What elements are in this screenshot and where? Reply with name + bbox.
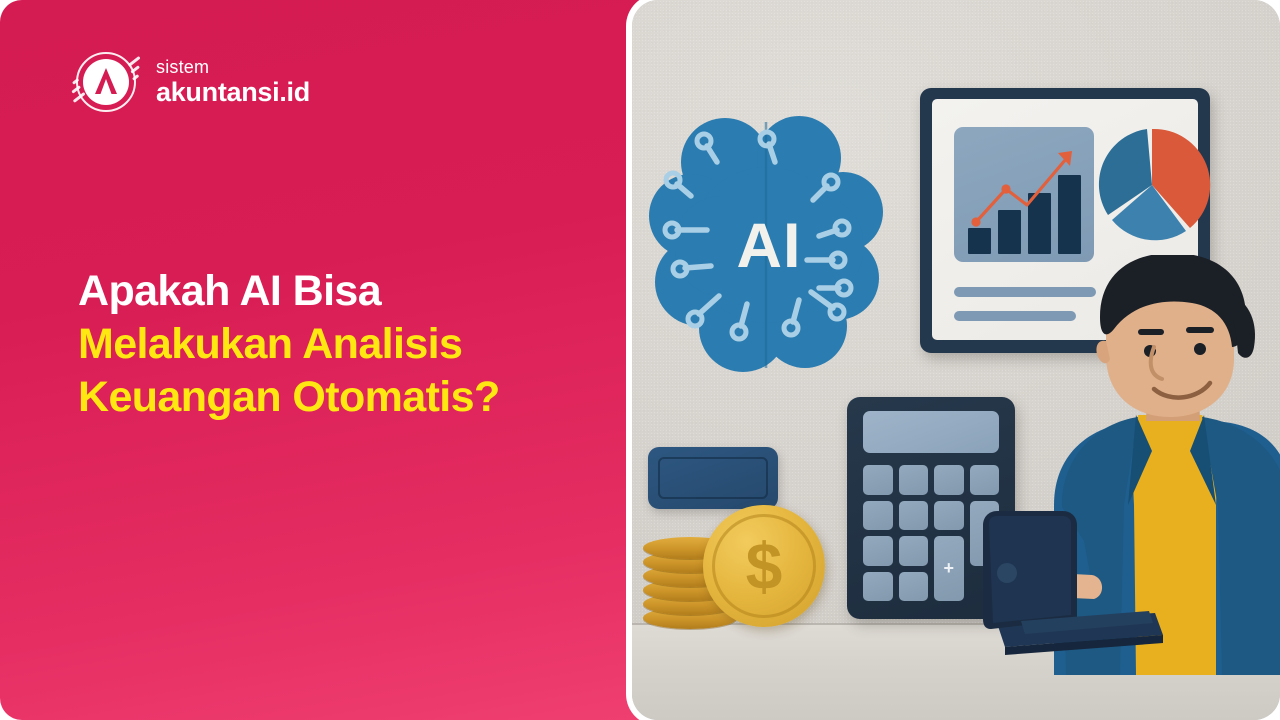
brand-logo-text: sistem akuntansi.id: [156, 58, 310, 106]
bar-chart: [954, 127, 1094, 262]
brand-tagline: sistem: [156, 58, 310, 76]
calculator-key: [863, 465, 893, 495]
calculator-key-plus: +: [934, 536, 964, 601]
brand-name: akuntansi.id: [156, 79, 310, 106]
laptop-icon: [977, 495, 1167, 660]
headline-block: Apakah AI Bisa Melakukan Analisis Keuang…: [78, 265, 598, 424]
calculator-key: [899, 536, 929, 566]
logo-a-chevron-icon: [83, 59, 129, 105]
headline-line-2: Melakukan Analisis: [78, 318, 598, 371]
illustration-panel: AI: [632, 0, 1280, 720]
calculator-key: [863, 536, 893, 566]
banknote-card-icon: [648, 447, 778, 509]
calculator-key: [899, 572, 929, 602]
promo-banner: sistem akuntansi.id Apakah AI Bisa Melak…: [0, 0, 1280, 720]
banknote-inner-border: [658, 457, 768, 499]
brand-logo[interactable]: sistem akuntansi.id: [70, 46, 310, 118]
ai-brain-label: AI: [647, 100, 887, 385]
circular-a-arrow-logo-icon: [70, 46, 142, 118]
ai-brain-circuit-icon: AI: [647, 100, 887, 385]
headline-line-3: Keuangan Otomatis?: [78, 371, 598, 424]
calculator-key: [934, 501, 964, 531]
pie-chart: [1092, 125, 1212, 245]
calculator-display: [863, 411, 999, 453]
calculator-key: [970, 465, 1000, 495]
calculator-key: [863, 572, 893, 602]
calculator-key: [899, 501, 929, 531]
calculator-key: [899, 465, 929, 495]
calculator-key: [863, 501, 893, 531]
dollar-symbol: $: [703, 505, 825, 627]
headline-line-1: Apakah AI Bisa: [78, 265, 598, 318]
calculator-key: [934, 465, 964, 495]
gold-coin-dollar-icon: $: [703, 505, 825, 627]
left-text-panel: sistem akuntansi.id Apakah AI Bisa Melak…: [0, 0, 648, 720]
